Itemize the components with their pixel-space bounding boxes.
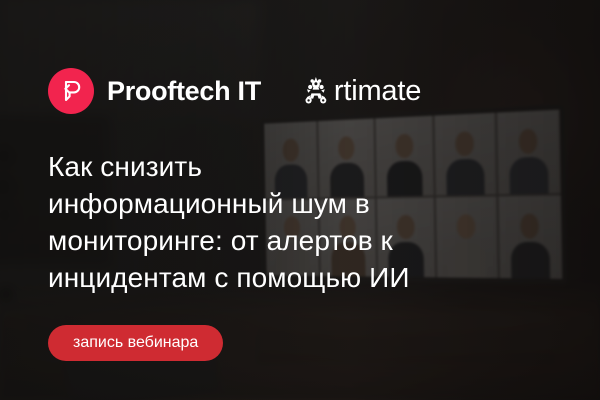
ornate-letter-a-icon xyxy=(299,75,333,108)
webinar-banner: Prooftech IT xyxy=(0,0,600,400)
webinar-recording-button[interactable]: запись вебинара xyxy=(48,325,223,361)
headline-line: Как снизить xyxy=(48,148,558,185)
brand-artimate: rtimate xyxy=(299,75,421,108)
headline-line: мониторинге: от алертов к xyxy=(48,222,558,259)
headline-line: информационный шум в xyxy=(48,185,558,222)
page-title: Как снизить информационный шум в монитор… xyxy=(48,148,558,296)
brand-prooftech-label: Prooftech IT xyxy=(107,76,261,107)
banner-content: Prooftech IT xyxy=(0,0,600,400)
prooftech-p-monogram-icon xyxy=(48,68,94,114)
logo-row: Prooftech IT xyxy=(48,68,421,114)
brand-prooftech-it: Prooftech IT xyxy=(48,68,261,114)
brand-artimate-label: rtimate xyxy=(334,75,421,108)
headline-line: инцидентам с помощью ИИ xyxy=(48,259,558,296)
